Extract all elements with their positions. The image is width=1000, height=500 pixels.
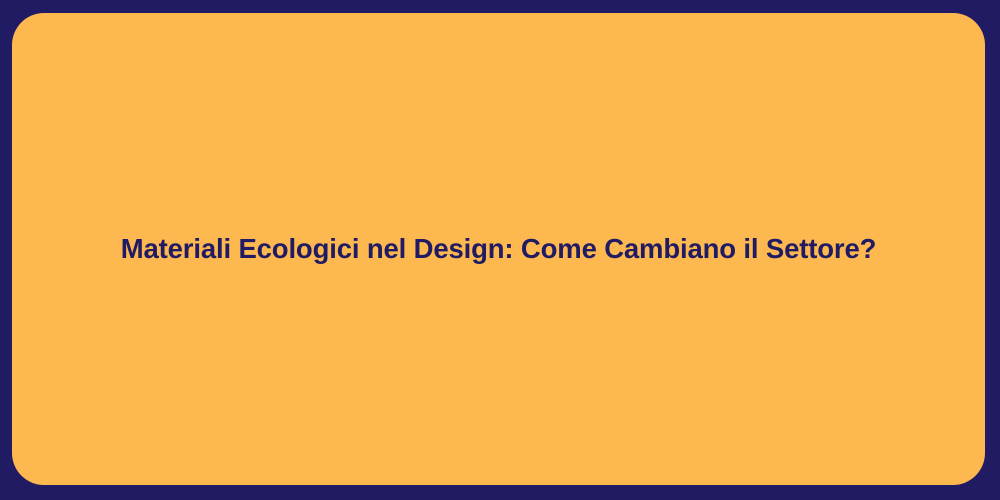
banner-card: Materiali Ecologici nel Design: Come Cam… [12,13,985,485]
banner-title: Materiali Ecologici nel Design: Come Cam… [81,230,917,267]
banner-frame: Materiali Ecologici nel Design: Come Cam… [0,0,1000,500]
